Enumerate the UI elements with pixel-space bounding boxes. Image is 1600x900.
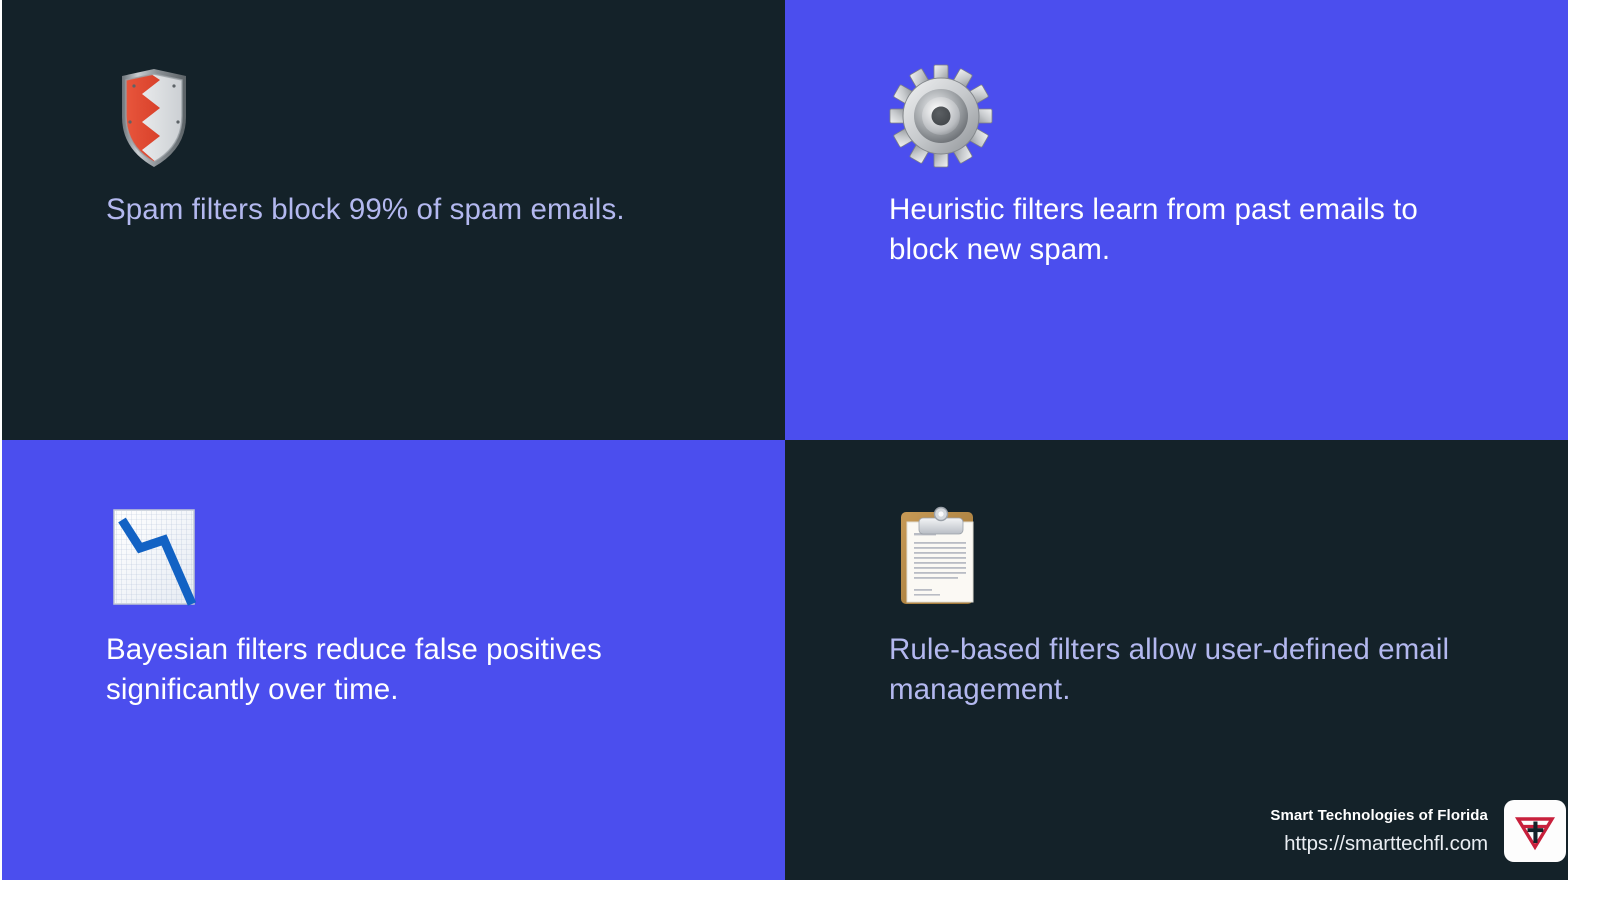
clipboard-icon bbox=[889, 504, 1512, 608]
fact-card-grid: Spam filters block 99% of spam emails. bbox=[2, 0, 1568, 880]
chart-decreasing-icon bbox=[106, 504, 729, 608]
branding-text: Smart Technologies of Florida https://sm… bbox=[1270, 808, 1488, 855]
fact-text: Bayesian filters reduce false positives … bbox=[106, 630, 686, 710]
fact-card-bayesian-filters: Bayesian filters reduce false positives … bbox=[2, 440, 785, 880]
fact-card-heuristic-filters: Heuristic filters learn from past emails… bbox=[785, 0, 1568, 440]
shield-icon bbox=[106, 64, 729, 168]
company-url[interactable]: https://smarttechfl.com bbox=[1270, 834, 1488, 855]
fact-text: Rule-based filters allow user-defined em… bbox=[889, 630, 1469, 710]
gear-icon bbox=[889, 64, 1512, 168]
fact-card-spam-filters: Spam filters block 99% of spam emails. bbox=[2, 0, 785, 440]
fact-text: Spam filters block 99% of spam emails. bbox=[106, 190, 686, 230]
company-logo bbox=[1504, 800, 1566, 862]
branding: Smart Technologies of Florida https://sm… bbox=[1270, 800, 1566, 862]
infographic-canvas: Spam filters block 99% of spam emails. bbox=[0, 0, 1600, 900]
fact-text: Heuristic filters learn from past emails… bbox=[889, 190, 1469, 270]
company-name: Smart Technologies of Florida bbox=[1270, 808, 1488, 823]
